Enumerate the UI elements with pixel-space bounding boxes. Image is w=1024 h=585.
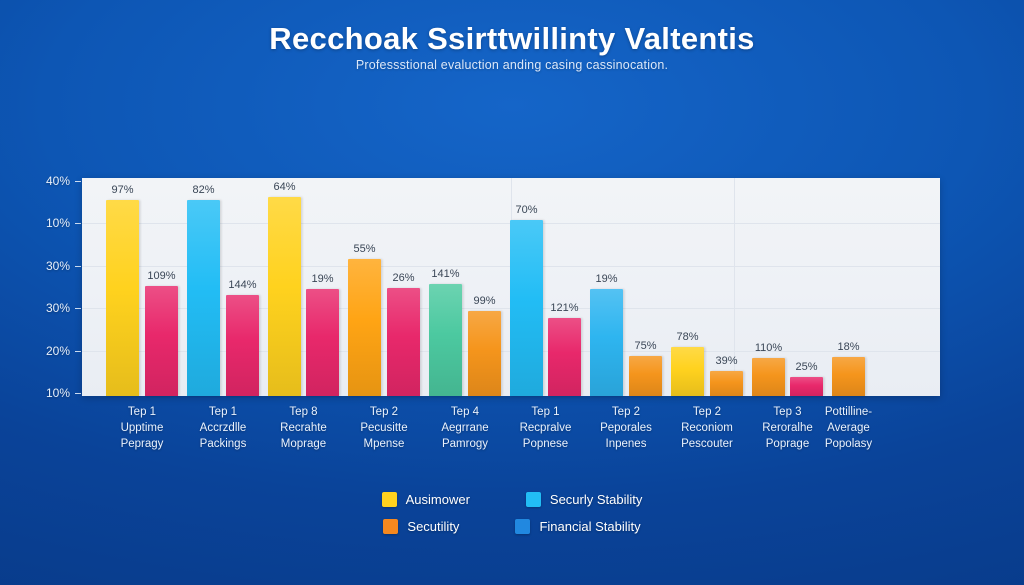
x-axis-label-line: Popolasy [799, 436, 899, 452]
bar[interactable]: 39% [710, 371, 743, 396]
bars-container: 97%109%82%144%64%19%55%26%141%99%70%121%… [82, 178, 940, 396]
legend-label: Secutility [407, 519, 459, 534]
legend-item[interactable]: Securly Stability [526, 492, 642, 507]
bar-value-label: 78% [676, 331, 698, 343]
bar[interactable]: 78% [671, 347, 704, 396]
page-subtitle: Professstional evaluction anding casing … [356, 58, 668, 72]
y-axis-tick: 30% [0, 301, 82, 315]
bar[interactable]: 25% [790, 377, 823, 396]
yellow-swatch [382, 492, 397, 507]
legend-label: Financial Stability [539, 519, 640, 534]
x-axis: Tep 1UpptimePepragyTep 1AccrzdllePacking… [82, 404, 940, 470]
bar[interactable]: 55% [348, 259, 381, 396]
chart-legend: AusimowerSecurly StabilitySecutilityFina… [0, 492, 1024, 534]
bar[interactable]: 70% [510, 220, 543, 396]
bar-value-label: 19% [595, 273, 617, 285]
x-axis-category-label: Pottilline-AveragePopolasy [799, 404, 899, 452]
bar[interactable]: 18% [832, 357, 865, 396]
bar[interactable]: 75% [629, 356, 662, 396]
bar-value-label: 39% [715, 355, 737, 367]
blue-swatch [515, 519, 530, 534]
bar[interactable]: 99% [468, 311, 501, 396]
legend-item[interactable]: Ausimower [382, 492, 470, 507]
bar-value-label: 25% [795, 361, 817, 373]
bar-value-label: 55% [353, 243, 375, 255]
y-axis: 40%10%30%30%20%10% [0, 178, 82, 396]
bar-value-label: 70% [515, 204, 537, 216]
bar[interactable]: 26% [387, 288, 420, 396]
bar[interactable]: 121% [548, 318, 581, 396]
legend-item[interactable]: Secutility [383, 519, 459, 534]
bar-value-label: 19% [311, 273, 333, 285]
y-axis-tick: 10% [0, 216, 82, 230]
bar-value-label: 110% [755, 342, 782, 354]
x-axis-label-line: Average [799, 420, 899, 436]
legend-row: SecutilityFinancial Stability [383, 519, 640, 534]
orange-swatch [383, 519, 398, 534]
bar[interactable]: 141% [429, 284, 462, 396]
bar[interactable]: 97% [106, 200, 139, 396]
bar[interactable]: 109% [145, 286, 178, 396]
bar-value-label: 18% [837, 341, 859, 353]
legend-label: Ausimower [406, 492, 470, 507]
bar-value-label: 64% [273, 181, 295, 193]
cyan-swatch [526, 492, 541, 507]
x-axis-label-line: Pottilline- [799, 404, 899, 420]
bar-value-label: 26% [392, 272, 414, 284]
bar-value-label: 82% [192, 184, 214, 196]
bar-value-label: 109% [147, 270, 175, 282]
legend-item[interactable]: Financial Stability [515, 519, 640, 534]
bar-value-label: 141% [431, 268, 459, 280]
bar-value-label: 75% [634, 340, 656, 352]
bar[interactable]: 110% [752, 358, 785, 396]
bar-value-label: 121% [550, 302, 578, 314]
bar[interactable]: 82% [187, 200, 220, 396]
legend-label: Securly Stability [550, 492, 642, 507]
bar[interactable]: 64% [268, 197, 301, 396]
bar[interactable]: 144% [226, 295, 259, 396]
bar[interactable]: 19% [590, 289, 623, 396]
bar-value-label: 99% [473, 295, 495, 307]
bar[interactable]: 19% [306, 289, 339, 396]
y-axis-tick: 40% [0, 174, 82, 188]
page-title: Recchoak Ssirttwillinty Valtentis [0, 22, 1024, 56]
chart-header: Recchoak Ssirttwillinty Valtentis Profes… [0, 0, 1024, 74]
bar-value-label: 144% [228, 279, 256, 291]
y-axis-tick: 10% [0, 386, 82, 400]
y-axis-tick: 30% [0, 259, 82, 273]
y-axis-tick: 20% [0, 344, 82, 358]
bar-value-label: 97% [111, 184, 133, 196]
legend-row: AusimowerSecurly Stability [382, 492, 643, 507]
